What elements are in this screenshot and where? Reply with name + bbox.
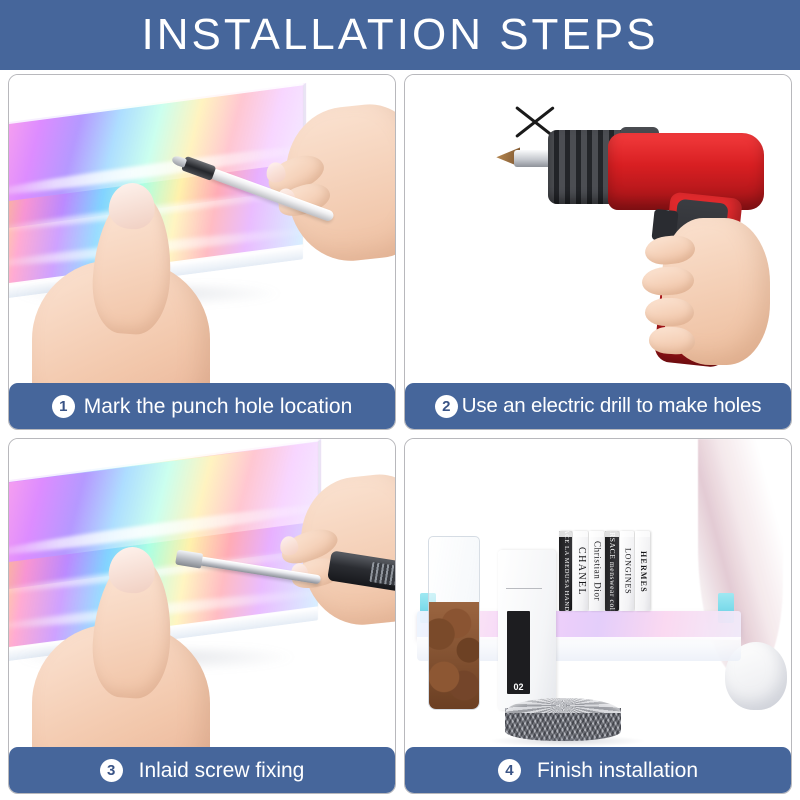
ceramic-canister: 02 <box>498 550 556 710</box>
step-number-badge: 4 <box>498 759 521 782</box>
step-3-caption-bar: 3 Inlaid screw fixing <box>9 747 395 793</box>
step-panel-1: 1 Mark the punch hole location <box>8 74 396 430</box>
book-title: HERMES <box>639 551 647 593</box>
finger <box>645 298 695 326</box>
electric-drill <box>505 93 791 376</box>
book-spine: VERSACE LA MEDUSA HAND BAGS <box>559 531 572 611</box>
book-top-edge <box>589 531 604 537</box>
finger <box>648 326 695 355</box>
step-caption-text: Mark the punch hole location <box>84 396 353 417</box>
step-number-badge: 3 <box>100 759 123 782</box>
book-spine: CHANEL <box>573 531 588 611</box>
step-caption-text: Inlaid screw fixing <box>139 760 305 781</box>
stool-top <box>505 698 621 714</box>
coffee-beans <box>429 602 479 709</box>
step-4-caption-bar: 4 Finish installation <box>405 747 791 793</box>
installation-steps-poster: INSTALLATION STEPS <box>0 0 800 800</box>
step-panel-3: 3 Inlaid screw fixing <box>8 438 396 794</box>
step-2-illustration <box>405 75 791 383</box>
step-panel-4: 02 VERSACE LA MEDUSA HAND BAGS CHANEL <box>404 438 792 794</box>
step-3-illustration <box>9 439 395 747</box>
book-spine: Christian Dior <box>589 531 604 611</box>
step-caption-text: Use an electric drill to make holes <box>462 396 762 417</box>
step-1-illustration <box>9 75 395 383</box>
book-spine: HERMES <box>635 531 650 611</box>
steps-grid: 1 Mark the punch hole location <box>8 74 792 794</box>
book-title: Christian Dior <box>592 541 601 601</box>
finger <box>642 265 695 296</box>
book-row: VERSACE LA MEDUSA HAND BAGS CHANEL Chris… <box>559 531 650 611</box>
step-4-illustration: 02 VERSACE LA MEDUSA HAND BAGS CHANEL <box>405 439 791 747</box>
book-top-edge <box>635 531 650 537</box>
book-title: VERSACE LA MEDUSA HAND BAGS <box>563 531 570 611</box>
book-top-edge <box>620 531 634 537</box>
poster-header: INSTALLATION STEPS <box>0 0 800 70</box>
book-top-edge <box>573 531 588 537</box>
floor-shadow <box>490 735 644 747</box>
canister-number: 02 <box>513 683 523 694</box>
book-title: CHANEL <box>576 547 586 596</box>
book-spine: VERSACE menswear collec <box>605 531 619 611</box>
step-caption-text: Finish installation <box>537 760 698 781</box>
drill-holding-hand <box>662 218 770 365</box>
canister-label: 02 <box>507 611 530 694</box>
book-spine: LONGINES <box>620 531 634 611</box>
step-number-badge: 2 <box>435 395 458 418</box>
glass-jar <box>428 536 480 710</box>
step-panel-2: 2 Use an electric drill to make holes <box>404 74 792 430</box>
book-title: VERSACE menswear collec <box>609 531 617 611</box>
finger <box>643 233 695 266</box>
step-2-caption-bar: 2 Use an electric drill to make holes <box>405 383 791 429</box>
page-title: INSTALLATION STEPS <box>142 13 659 57</box>
step-1-caption-bar: 1 Mark the punch hole location <box>9 383 395 429</box>
canister-text-line <box>506 588 542 589</box>
book-top-edge <box>605 531 619 537</box>
book-top-edge <box>559 531 572 537</box>
step-number-badge: 1 <box>52 395 75 418</box>
book-title: LONGINES <box>623 548 631 594</box>
